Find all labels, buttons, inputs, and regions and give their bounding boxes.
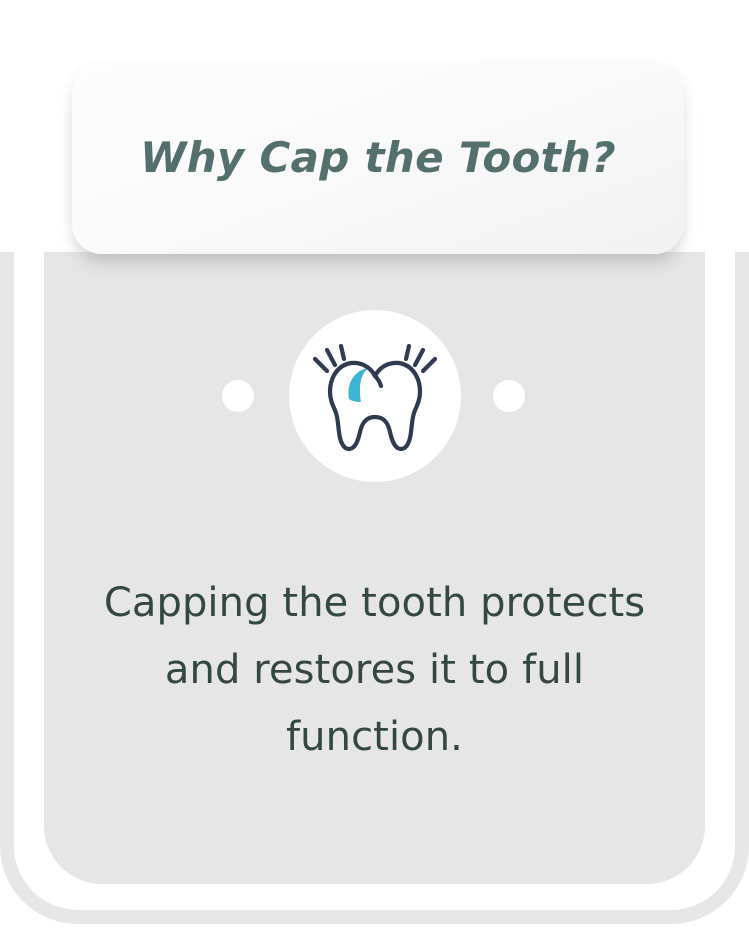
infographic-card: Why Cap the Tooth? — [0, 0, 749, 930]
icon-row — [44, 310, 705, 482]
decorative-dot-left — [222, 380, 254, 412]
tooth-crown-crease — [375, 376, 381, 386]
icon-circle-background — [289, 310, 461, 482]
decorative-dot-right — [493, 380, 525, 412]
card-header-tab: Why Cap the Tooth? — [72, 62, 684, 254]
tooth-sparkle-icon — [310, 337, 440, 455]
page-title: Why Cap the Tooth? — [140, 137, 616, 179]
card-body-text: Capping the tooth protects and restores … — [90, 570, 659, 770]
tooth-highlight — [348, 368, 368, 402]
